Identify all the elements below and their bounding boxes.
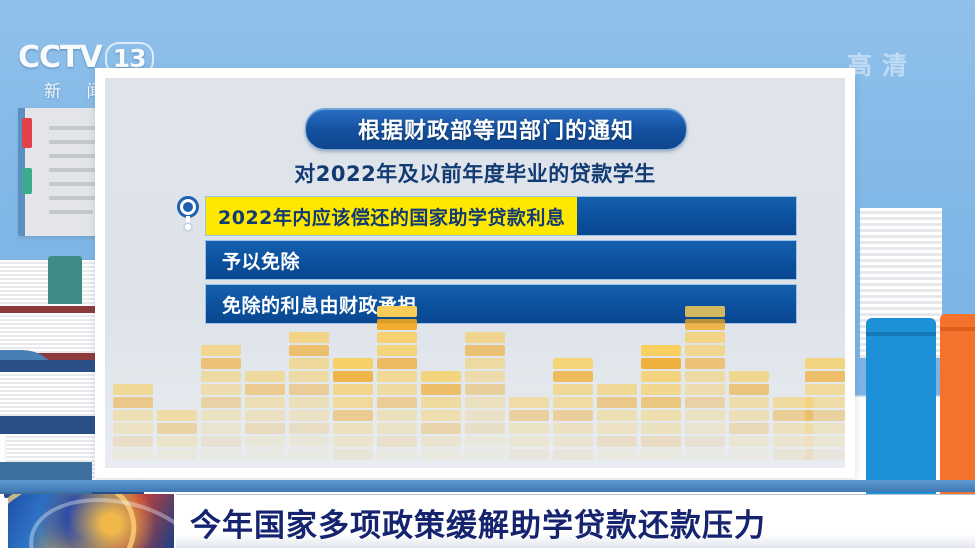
coin-stack [201, 343, 241, 460]
coin [805, 423, 845, 434]
coin [245, 423, 285, 434]
coin [553, 397, 593, 408]
coin [421, 371, 461, 382]
coin [553, 410, 593, 421]
coin [805, 397, 845, 408]
coin [333, 423, 373, 434]
globe-graphic-icon [8, 494, 174, 548]
content-panel-inner: 根据财政部等四部门的通知 对2022年及以前年度毕业的贷款学生 2022年内应该… [105, 78, 845, 468]
coin [553, 449, 593, 460]
coin [805, 410, 845, 421]
coin [465, 371, 505, 382]
coin [465, 436, 505, 447]
coin [641, 345, 681, 356]
coin [201, 449, 241, 460]
coin [729, 371, 769, 382]
coin [245, 449, 285, 460]
coin [157, 449, 197, 460]
highlight-label: 2022年内应该偿还的国家助学贷款利息 [218, 203, 565, 230]
coin [245, 436, 285, 447]
coin [377, 371, 417, 382]
coin [509, 449, 549, 460]
coin [597, 384, 637, 395]
book-tab-red [22, 118, 32, 148]
content-panel: 根据财政部等四部门的通知 对2022年及以前年度毕业的贷款学生 2022年内应该… [95, 68, 855, 478]
coin [685, 423, 725, 434]
coin [465, 397, 505, 408]
coin [377, 423, 417, 434]
book-cap [866, 332, 936, 336]
coin [377, 397, 417, 408]
coin [377, 306, 417, 317]
coin [113, 384, 153, 395]
coin [597, 397, 637, 408]
coin [685, 449, 725, 460]
coin [201, 371, 241, 382]
coin [289, 358, 329, 369]
coin-stack [597, 382, 637, 460]
coin [509, 423, 549, 434]
coin-stack [377, 304, 417, 460]
coin [201, 436, 241, 447]
coin [641, 423, 681, 434]
coin [685, 371, 725, 382]
coin [201, 397, 241, 408]
coin-stack [465, 330, 505, 460]
coin [289, 449, 329, 460]
info-row: 2022年内应该偿还的国家助学贷款利息 [205, 196, 797, 236]
coin [377, 436, 417, 447]
coin [421, 384, 461, 395]
coin [333, 410, 373, 421]
coin [289, 397, 329, 408]
coin-stack [157, 408, 197, 460]
coin [553, 371, 593, 382]
coin [377, 358, 417, 369]
coin [245, 410, 285, 421]
coin [377, 410, 417, 421]
coin [289, 423, 329, 434]
hd-watermark: 高清 [847, 46, 917, 82]
coin-stack [553, 356, 593, 460]
coin [509, 410, 549, 421]
coin [641, 449, 681, 460]
coin [465, 358, 505, 369]
coin [333, 358, 373, 369]
coin [289, 332, 329, 343]
coin [377, 345, 417, 356]
headline-text: 今年国家多项政策缓解助学贷款还款压力 [176, 500, 766, 545]
coin [421, 397, 461, 408]
coin [113, 436, 153, 447]
coin [465, 332, 505, 343]
coin [597, 410, 637, 421]
coin [685, 319, 725, 330]
book-line [49, 210, 93, 214]
coin [805, 384, 845, 395]
coin [201, 345, 241, 356]
coin [805, 358, 845, 369]
coin [465, 423, 505, 434]
book-spine-teal [48, 256, 82, 304]
lower-third-strip [0, 480, 975, 492]
info-row: 予以免除 [205, 240, 797, 280]
coin [729, 397, 769, 408]
coin [685, 332, 725, 343]
coin [685, 306, 725, 317]
headline-bar: 今年国家多项政策缓解助学贷款还款压力 [176, 494, 975, 548]
coin [729, 436, 769, 447]
coin-stack [509, 395, 549, 460]
right-book-illustration [862, 100, 975, 490]
pin-tip [183, 222, 193, 232]
coin [333, 371, 373, 382]
coin-stack [113, 382, 153, 460]
coin [421, 423, 461, 434]
coin [421, 436, 461, 447]
coin [597, 436, 637, 447]
coin [729, 449, 769, 460]
highlight-band: 2022年内应该偿还的国家助学贷款利息 [206, 197, 577, 235]
coin [729, 423, 769, 434]
cctv-wordmark: CCTV [18, 40, 102, 75]
coin [553, 436, 593, 447]
coin [641, 436, 681, 447]
coin [685, 384, 725, 395]
coin [465, 345, 505, 356]
title-banner: 根据财政部等四部门的通知 [305, 108, 687, 150]
coin [289, 345, 329, 356]
coin [113, 397, 153, 408]
coin [465, 384, 505, 395]
coin-stack [641, 343, 681, 460]
coin [377, 449, 417, 460]
panel-subtitle: 对2022年及以前年度毕业的贷款学生 [105, 158, 845, 188]
coin [421, 449, 461, 460]
coin [113, 449, 153, 460]
coin [729, 384, 769, 395]
coin [641, 397, 681, 408]
coin [685, 436, 725, 447]
coin [377, 319, 417, 330]
coin [597, 423, 637, 434]
coin [333, 449, 373, 460]
coin [333, 436, 373, 447]
coin [509, 436, 549, 447]
coin [685, 410, 725, 421]
coin [201, 423, 241, 434]
title-banner-label: 根据财政部等四部门的通知 [358, 113, 634, 145]
coin [333, 384, 373, 395]
book-tab-green [22, 168, 32, 194]
coin-stack [685, 304, 725, 460]
coin-stack [421, 369, 461, 460]
coin [553, 384, 593, 395]
coin [553, 423, 593, 434]
coin [421, 410, 461, 421]
coin [685, 397, 725, 408]
coin [157, 436, 197, 447]
coin-stack [245, 369, 285, 460]
coin [641, 371, 681, 382]
coin [553, 358, 593, 369]
coin [157, 410, 197, 421]
coin [377, 384, 417, 395]
coin [729, 410, 769, 421]
coin [685, 358, 725, 369]
coin [113, 410, 153, 421]
book-line [49, 182, 97, 186]
pin-dot [183, 202, 193, 212]
book-line [49, 154, 101, 158]
coin [289, 384, 329, 395]
tv-broadcast-screenshot: CCTV13 新 闻 高清 根据财政部等四部门的通知 对2022年及以前年度毕业… [0, 0, 975, 548]
coin [201, 410, 241, 421]
coin-stack [805, 356, 845, 460]
coin [377, 332, 417, 343]
coin [641, 410, 681, 421]
coin [113, 423, 153, 434]
coin [685, 345, 725, 356]
coin [289, 371, 329, 382]
news-lower-third: 今年国家多项政策缓解助学贷款还款压力 [0, 492, 975, 548]
coin [597, 449, 637, 460]
coin [201, 384, 241, 395]
coin [289, 410, 329, 421]
coin-stack-graphic [105, 298, 845, 468]
coin [201, 358, 241, 369]
coin [245, 397, 285, 408]
coin [465, 449, 505, 460]
coin [289, 436, 329, 447]
coin [157, 423, 197, 434]
coin [641, 384, 681, 395]
coin [805, 436, 845, 447]
coin [805, 449, 845, 460]
coin-stack [289, 330, 329, 460]
coin-stack [333, 356, 373, 460]
coin [805, 371, 845, 382]
location-target-icon [175, 196, 201, 230]
coin [465, 410, 505, 421]
coin [641, 358, 681, 369]
coin-stack [729, 369, 769, 460]
coin [333, 397, 373, 408]
coin [245, 371, 285, 382]
book-cap [940, 327, 975, 331]
info-row-label: 予以免除 [206, 247, 300, 274]
coin [509, 397, 549, 408]
coin [245, 384, 285, 395]
